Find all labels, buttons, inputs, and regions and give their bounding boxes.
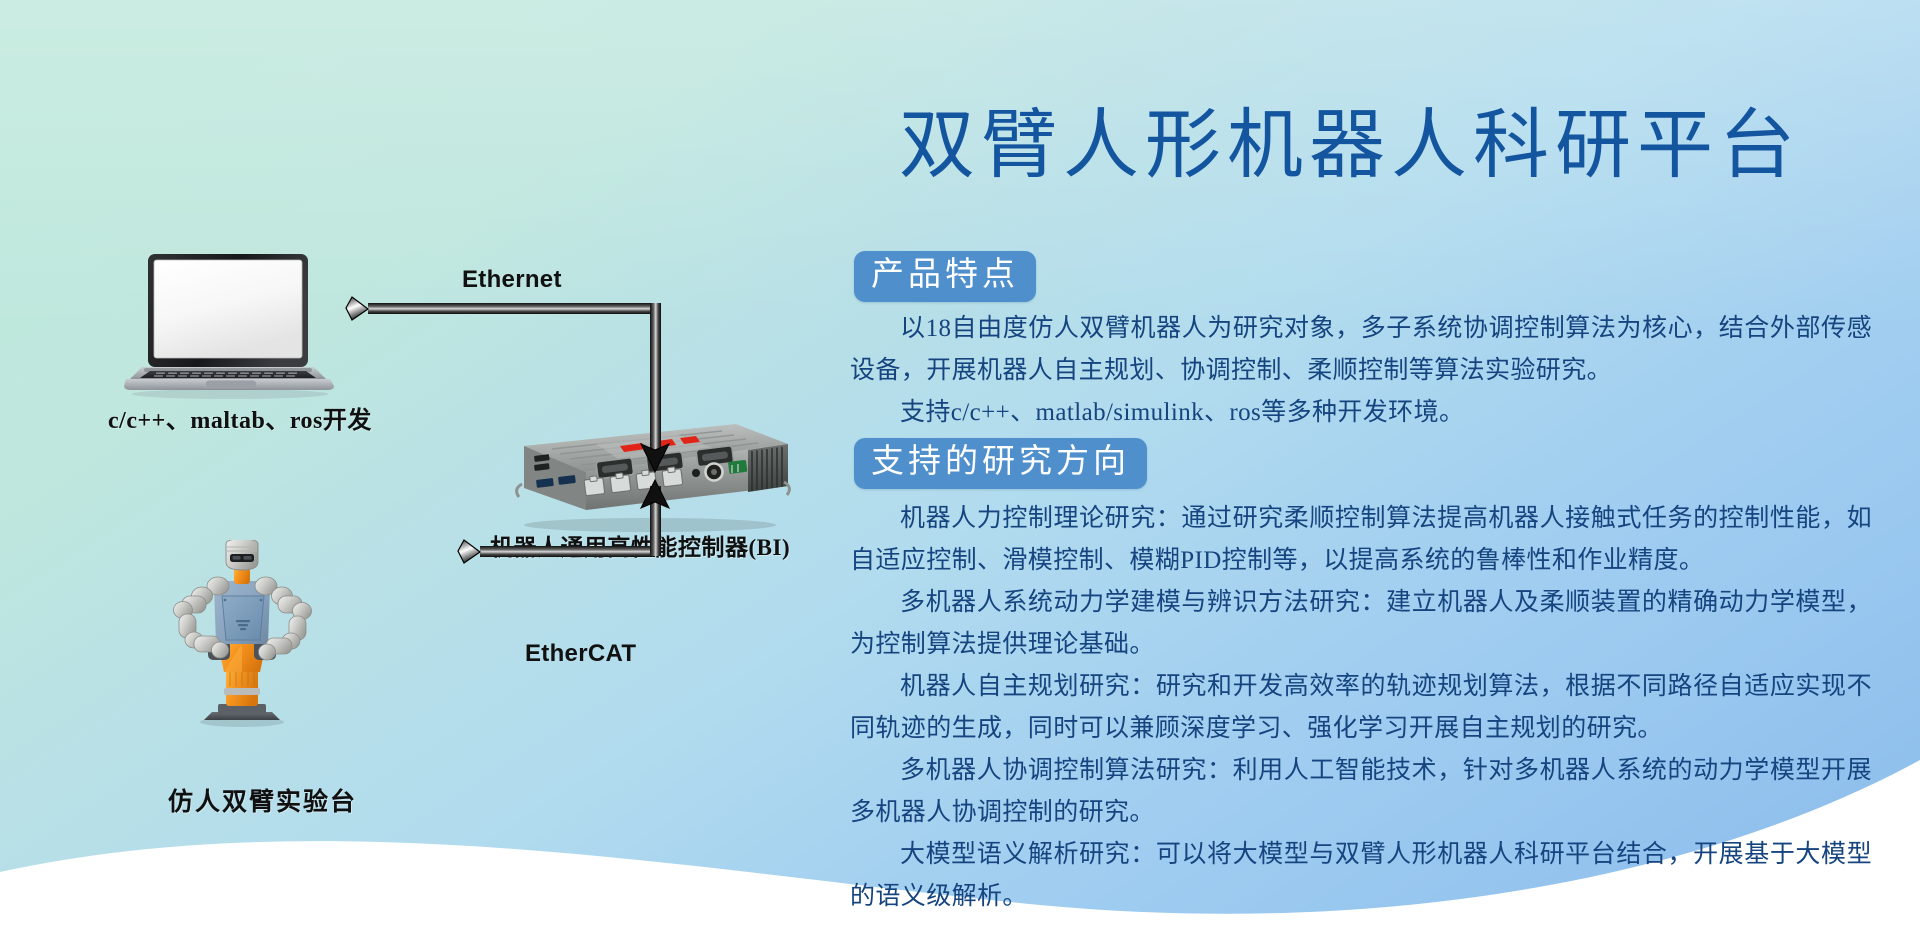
ethercat-link-label: EtherCAT <box>525 640 636 668</box>
research-paragraph-5: 大模型语义解析研究：可以将大模型与双臂人形机器人科研平台结合，开展基于大模型的语… <box>850 834 1872 918</box>
poster-root: c/c++、maltab、ros开发 <box>0 0 1920 937</box>
robot-label: 仿人双臂实验台 <box>168 782 357 818</box>
features-paragraph-1: 以18自由度仿人双臂机器人为研究对象，多子系统协调控制算法为核心，结合外部传感设… <box>850 308 1872 392</box>
section-badge-research-directions: 支持的研究方向 <box>854 438 1147 489</box>
humanoid-dual-arm-robot-icon <box>150 540 350 730</box>
section-badge-features: 产品特点 <box>854 251 1036 302</box>
controller-label: 机器人通用高性能控制器(BI) <box>490 528 790 562</box>
research-paragraph-2: 多机器人系统动力学建模与辨识方法研究：建立机器人及柔顺装置的精确动力学模型，为控… <box>850 582 1872 666</box>
content-panel: 双臂人形机器人科研平台 产品特点 以18自由度仿人双臂机器人为研究对象，多子系统… <box>840 0 1920 937</box>
research-paragraph-3: 机器人自主规划研究：研究和开发高效率的轨迹规划算法，根据不同路径自适应实现不同轨… <box>850 666 1872 750</box>
laptop-icon <box>120 250 350 405</box>
system-diagram: c/c++、maltab、ros开发 <box>0 0 860 937</box>
page-title: 双臂人形机器人科研平台 <box>840 108 1860 184</box>
research-paragraph-4: 多机器人协调控制算法研究：利用人工智能技术，针对多机器人系统的动力学模型开展多机… <box>850 750 1872 834</box>
research-paragraph-1: 机器人力控制理论研究：通过研究柔顺控制算法提高机器人接触式任务的控制性能，如自适… <box>850 498 1872 582</box>
laptop-label: c/c++、maltab、ros开发 <box>108 400 372 435</box>
features-paragraph-2: 支持c/c++、matlab/simulink、ros等多种开发环境。 <box>850 392 1872 434</box>
ethernet-link-label: Ethernet <box>462 266 562 294</box>
industrial-controller-icon <box>500 410 800 535</box>
